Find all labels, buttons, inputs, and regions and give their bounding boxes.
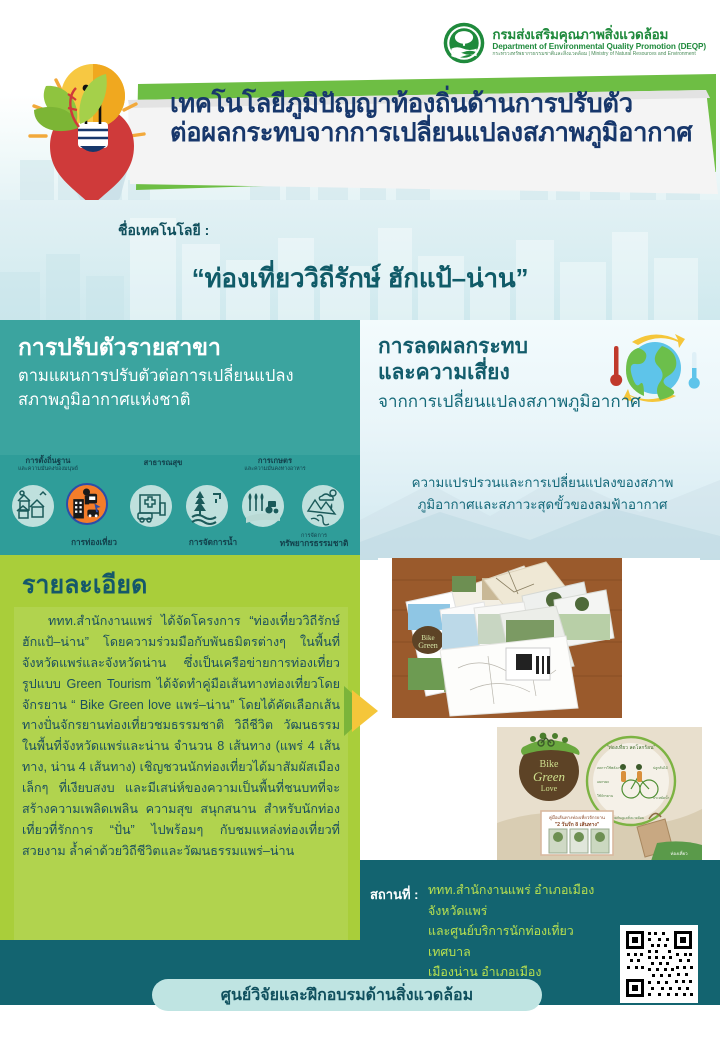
svg-text:แยกขยะ: แยกขยะ (597, 780, 610, 784)
logo-name-en: Department of Environmental Quality Prom… (492, 43, 706, 52)
svg-text:ลดการใช้พลังงาน: ลดการใช้พลังงาน (597, 766, 624, 770)
sector-icon-strip: การตั้งถิ่นฐาน และความมั่นคงของมนุษย์ สา… (0, 455, 360, 560)
deqp-logo: กรมส่งเสริมคุณภาพสิ่งแวดล้อม Department … (443, 22, 706, 64)
brochures-on-table-photo: Bike Green (378, 558, 700, 724)
svg-text:ท่องเที่ยว: ท่องเที่ยว (670, 850, 688, 856)
bottom-banner-label: ศูนย์วิจัยและฝึกอบรมด้านสิ่งแวดล้อม (221, 983, 473, 1008)
bike-green-love-poster-photo: Bike Green Love "ท่องเที่ยว ลดโลกร้อน" ล… (497, 727, 702, 867)
impact-subheading: จากการเปลี่ยนแปลงสภาพภูมิอากาศ (378, 392, 641, 412)
agriculture-tractor-icon (242, 485, 284, 527)
thermometer-cold-icon (689, 352, 700, 389)
svg-text:Green: Green (533, 769, 565, 784)
mid-section: การปรับตัวรายสาขา ตามแผนการปรับตัวต่อการ… (0, 320, 720, 560)
title-line-2: ต่อผลกระทบจากการเปลี่ยนแปลงสภาพภูมิอากาศ (170, 119, 710, 148)
sector-subheading-2: สภาพภูมิอากาศแห่งชาติ (18, 389, 348, 412)
sector-label-public-health: สาธารณสุข (124, 459, 202, 468)
impact-body: ความแปรปรวนและการเปลี่ยนแปลงของสภาพ ภูมิ… (370, 472, 715, 515)
impact-body-2: ภูมิอากาศและสภาวะสุดขั้วของลมฟ้าอากาศ (370, 494, 715, 516)
tech-name-value: “ท่องเที่ยววิถีรักษ์ ฮักแป้–น่าน” (0, 258, 720, 299)
impact-reduction-panel: การลดผลกระทบ และความเสี่ยง จากการเปลี่ยน… (360, 320, 720, 560)
impact-heading: การลดผลกระทบ และความเสี่ยง (378, 334, 528, 385)
svg-text:ใช้จักรยาน: ใช้จักรยาน (597, 794, 614, 798)
location-label: สถานที่ : (370, 884, 419, 905)
bottom-banner[interactable]: ศูนย์วิจัยและฝึกอบรมด้านสิ่งแวดล้อม (152, 979, 542, 1011)
impact-body-1: ความแปรปรวนและการเปลี่ยนแปลงของสภาพ (370, 472, 715, 494)
details-panel: รายละเอียด ททท.สำนักงานแพร่ ได้จัดโครงกา… (0, 555, 360, 965)
sector-label-tourism: การท่องเที่ยว (48, 538, 140, 547)
svg-text:ปลูกต้นไม้: ปลูกต้นไม้ (653, 766, 668, 770)
impact-heading-1: การลดผลกระทบ (378, 334, 528, 360)
impact-heading-2: และความเสี่ยง (378, 360, 528, 386)
svg-text:Green: Green (418, 641, 438, 650)
logo-ministry: กระทรวงทรัพยากรธรรมชาติและสิ่งแวดล้อม | … (492, 52, 706, 57)
svg-text:"ท่องเที่ยว ลดโลกร้อน": "ท่องเที่ยว ลดโลกร้อน" (607, 744, 656, 751)
public-health-hospital-icon (130, 485, 172, 527)
sector-label-settlement: การตั้งถิ่นฐาน และความมั่นคงของมนุษย์ (6, 457, 90, 472)
tree-water-seal-icon (443, 22, 485, 64)
poster-header: กรมส่งเสริมคุณภาพสิ่งแวดล้อม Department … (0, 0, 720, 210)
svg-text:"2 วันรัก 8 เส้นทาง": "2 วันรัก 8 เส้นทาง" (555, 820, 600, 828)
tech-name-label: ชื่อเทคโนโลยี : (118, 220, 209, 242)
qr-code[interactable] (620, 925, 698, 1003)
details-body: ททท.สำนักงานแพร่ ได้จัดโครงการ “ท่องเที่… (14, 607, 348, 952)
thermometer-hot-icon (610, 346, 622, 386)
location-line-1: ททท.สำนักงานแพร่ อำเภอเมือง จังหวัดแพร่ (428, 880, 613, 921)
page-title: เทคโนโลยีภูมิปัญญาท้องถิ่นด้านการปรับตัว… (170, 90, 710, 147)
sector-icon-natural-resources[interactable] (302, 485, 344, 527)
sector-label-water: การจัดการน้ำ (170, 538, 256, 547)
sector-icon-agriculture[interactable] (242, 485, 284, 527)
qr-code-icon (624, 929, 694, 999)
sector-adaptation-panel: การปรับตัวรายสาขา ตามแผนการปรับตัวต่อการ… (0, 320, 360, 560)
svg-text:Love: Love (541, 784, 558, 793)
svg-text:คู่มือเส้นทางท่องเที่ยวจักรยาน: คู่มือเส้นทางท่องเที่ยวจักรยาน (549, 814, 605, 821)
title-line-1: เทคโนโลยีภูมิปัญญาท้องถิ่นด้านการปรับตัว (170, 90, 633, 118)
sector-label-natural-resources: การจัดการ ทรัพยากรธรรมชาติ (268, 533, 360, 548)
sector-icon-tourism[interactable] (66, 483, 108, 525)
tech-name-panel: ชื่อเทคโนโลยี : “ท่องเที่ยววิถีรักษ์ ฮัก… (0, 200, 720, 320)
arrow-yellow-icon (352, 690, 378, 732)
sector-heading: การปรับตัวรายสาขา (18, 334, 360, 361)
sector-label-agriculture: การเกษตร และความมั่นคงทางอาหาร (232, 457, 318, 472)
natural-resources-mountain-icon (302, 485, 344, 527)
sector-subheading-1: ตามแผนการปรับตัวต่อการเปลี่ยนแปลง (18, 365, 348, 388)
settlement-houses-icon (12, 485, 54, 527)
details-heading: รายละเอียด (22, 565, 147, 605)
water-management-faucet-icon (186, 485, 228, 527)
lightbulb-leaf-mappin-icon (16, 58, 171, 210)
tourism-city-bus-icon (68, 485, 105, 522)
sector-icon-water[interactable] (186, 485, 228, 527)
sector-icon-public-health[interactable] (130, 485, 172, 527)
poster-root: กรมส่งเสริมคุณภาพสิ่งแวดล้อม Department … (0, 0, 720, 1040)
location-line-2: และศูนย์บริการนักท่องเที่ยวเทศบาล (428, 921, 613, 962)
svg-text:ร่วมกันดูแลสิ่งแวดล้อม: ร่วมกันดูแลสิ่งแวดล้อม (611, 815, 644, 820)
sector-icon-settlement[interactable] (12, 485, 54, 527)
logo-name-th: กรมส่งเสริมคุณภาพสิ่งแวดล้อม (492, 28, 706, 42)
svg-text:ประหยัดน้ำ: ประหยัดน้ำ (653, 795, 670, 800)
